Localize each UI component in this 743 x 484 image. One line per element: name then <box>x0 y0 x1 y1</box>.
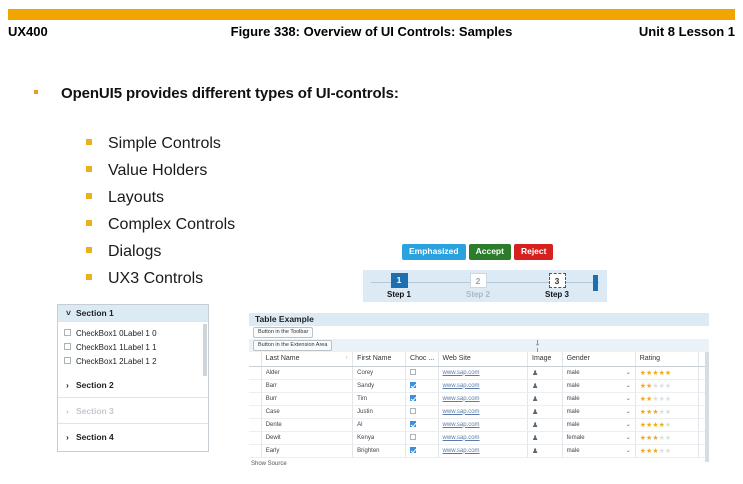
page-title: Figure 338: Overview of UI Controls: Sam… <box>231 24 513 39</box>
star-empty-icon[interactable]: ★ <box>665 396 671 403</box>
cell-last-name: Burr <box>261 392 352 405</box>
gender-select[interactable]: male⌄ <box>567 382 631 389</box>
roadmap-step-2-label: Step 2 <box>450 290 506 299</box>
list-item-label: UX3 Controls <box>108 270 203 287</box>
accordion-section-4-label: Section 4 <box>76 432 114 442</box>
roadmap-step-1-number: 1 <box>391 273 408 288</box>
list-item-label: Dialogs <box>108 243 161 260</box>
person-icon: ♟ <box>532 409 538 416</box>
cell-rating[interactable]: ★★★★★ <box>635 418 698 431</box>
star-filled-icon[interactable]: ★ <box>665 370 671 377</box>
table-toolbar: Button in the Toolbar <box>249 326 709 339</box>
chevron-down-icon[interactable]: ⌄ <box>626 369 631 376</box>
column-header-last-name-label: Last Name <box>266 355 300 362</box>
table-title: Table Example <box>249 313 709 326</box>
star-empty-icon[interactable]: ★ <box>665 435 671 442</box>
cell-web-site[interactable]: www.sap.com <box>438 431 527 444</box>
lead-statement: OpenUI5 provides different types of UI-c… <box>34 85 399 102</box>
accordion-section-3-label: Section 3 <box>76 406 114 416</box>
web-site-link[interactable]: www.sap.com <box>443 396 480 402</box>
cell-rating[interactable]: ★★★★★ <box>635 431 698 444</box>
list-item-label: Layouts <box>108 189 164 206</box>
cell-web-site[interactable]: www.sap.com <box>438 418 527 431</box>
chevron-down-icon: ˅ <box>66 305 76 322</box>
row-select-cell[interactable] <box>249 405 261 418</box>
cell-image: ♟ <box>528 405 563 418</box>
table-vertical-scrollbar[interactable] <box>705 352 709 462</box>
star-empty-icon[interactable]: ★ <box>665 422 671 429</box>
cell-rating[interactable]: ★★★★★ <box>635 444 698 457</box>
column-header-rating[interactable]: Rating <box>635 352 698 366</box>
table-row[interactable]: CaseJustinwww.sap.com♟male⌄★★★★★ <box>249 405 709 418</box>
gender-value: male <box>567 383 580 389</box>
table-row[interactable]: BurrTimwww.sap.com♟male⌄★★★★★ <box>249 392 709 405</box>
person-icon: ♟ <box>532 383 538 390</box>
resize-dots: •• <box>532 344 542 348</box>
rating-stars[interactable]: ★★★★★ <box>640 448 671 455</box>
cell-gender[interactable]: male⌄ <box>562 444 635 457</box>
column-header-first-name[interactable]: First Name <box>353 352 406 366</box>
checkbox-name: CheckBox1 2 <box>76 357 124 366</box>
cell-checked[interactable] <box>406 444 439 457</box>
roadmap-step-3[interactable]: 3 Step 3 <box>529 273 585 299</box>
bullet-square-icon <box>86 139 92 145</box>
table-row[interactable]: BarrSandywww.sap.com♟male⌄★★★★★ <box>249 379 709 392</box>
bullet-square-icon <box>86 193 92 199</box>
course-code: UX400 <box>8 24 48 39</box>
checkbox-icon[interactable] <box>64 357 71 364</box>
gender-value: female <box>567 435 585 441</box>
cell-image: ♟ <box>528 418 563 431</box>
star-empty-icon[interactable]: ★ <box>665 383 671 390</box>
cell-image: ♟ <box>528 444 563 457</box>
accordion-section-2-label: Section 2 <box>76 380 114 390</box>
cell-first-name: Brighten <box>353 444 406 457</box>
header-accent-bar <box>8 9 735 20</box>
checkbox-checked-icon[interactable] <box>410 421 416 427</box>
column-header-select[interactable] <box>249 352 261 366</box>
list-item: Simple Controls <box>86 130 235 157</box>
gender-value: male <box>567 396 580 402</box>
rating-stars[interactable]: ★★★★★ <box>640 435 671 442</box>
bullet-square-icon <box>86 247 92 253</box>
checkbox-checked-icon[interactable] <box>410 395 416 401</box>
column-header-image[interactable]: Image <box>528 352 563 366</box>
table-row[interactable]: EarlyBrightenwww.sap.com♟male⌄★★★★★ <box>249 444 709 457</box>
cell-rating[interactable]: ★★★★★ <box>635 379 698 392</box>
emphasized-button[interactable]: Emphasized <box>402 244 466 260</box>
gender-select[interactable]: male⌄ <box>567 421 631 428</box>
list-item: Layouts <box>86 184 235 211</box>
rating-stars[interactable]: ★★★★★ <box>640 383 671 390</box>
slide-header: UX400 Figure 338: Overview of UI Control… <box>8 24 735 44</box>
cell-last-name: Dewit <box>261 431 352 444</box>
unit-lesson: Unit 8 Lesson 1 <box>639 24 735 39</box>
table-row[interactable]: DewitKenyawww.sap.com♟female⌄★★★★★ <box>249 431 709 444</box>
row-select-cell[interactable] <box>249 431 261 444</box>
chevron-down-icon[interactable]: ⌄ <box>626 395 631 402</box>
person-icon: ♟ <box>532 396 538 403</box>
row-select-cell[interactable] <box>249 392 261 405</box>
roadmap-step-2-number: 2 <box>470 273 487 288</box>
bullet-square-icon <box>86 274 92 280</box>
chevron-down-icon[interactable]: ⌄ <box>626 382 631 389</box>
list-item-label: Value Holders <box>108 162 207 179</box>
accordion-section-2-header[interactable]: ›Section 2 <box>58 372 208 398</box>
checkbox-icon[interactable] <box>64 329 71 336</box>
gender-value: male <box>567 409 580 415</box>
roadmap-control: 1 Step 1 2 Step 2 3 Step 3 <box>363 270 607 302</box>
cell-last-name: Barr <box>261 379 352 392</box>
web-site-link[interactable]: www.sap.com <box>443 370 480 376</box>
checkbox-row[interactable]: CheckBox1 1Label 1 1 <box>64 340 208 354</box>
list-item: Value Holders <box>86 157 235 184</box>
cell-rating[interactable]: ★★★★★ <box>635 366 698 379</box>
checkbox-label: Label 1 1 <box>124 343 157 352</box>
person-icon: ♟ <box>532 435 538 442</box>
cell-first-name: Kenya <box>353 431 406 444</box>
cell-image: ♟ <box>528 431 563 444</box>
person-icon: ♟ <box>532 422 538 429</box>
gender-value: male <box>567 370 580 376</box>
cell-gender[interactable]: male⌄ <box>562 379 635 392</box>
table-row[interactable]: DenteAlwww.sap.com♟male⌄★★★★★ <box>249 418 709 431</box>
gender-select[interactable]: female⌄ <box>567 434 631 441</box>
column-header-web-site[interactable]: Web Site <box>438 352 527 366</box>
web-site-link[interactable]: www.sap.com <box>443 383 480 389</box>
web-site-link[interactable]: www.sap.com <box>443 448 480 454</box>
cell-gender[interactable]: female⌄ <box>562 431 635 444</box>
checkbox-name: CheckBox1 0 <box>76 329 124 338</box>
roadmap-end-marker <box>593 275 598 291</box>
column-resize-handle-icon[interactable]: •• <box>532 340 542 352</box>
cell-first-name: Tim <box>353 392 406 405</box>
cell-rating[interactable]: ★★★★★ <box>635 405 698 418</box>
extension-area-button[interactable]: Button in the Extension Area <box>253 340 332 351</box>
column-header-last-name[interactable]: Last Name↑ <box>261 352 352 366</box>
cell-web-site[interactable]: www.sap.com <box>438 444 527 457</box>
cell-first-name: Justin <box>353 405 406 418</box>
cell-last-name: Alder <box>261 366 352 379</box>
cell-web-site[interactable]: www.sap.com <box>438 405 527 418</box>
reject-button[interactable]: Reject <box>514 244 554 260</box>
checkbox-icon[interactable] <box>64 343 71 350</box>
roadmap-step-1[interactable]: 1 Step 1 <box>371 273 427 299</box>
cell-gender[interactable]: male⌄ <box>562 405 635 418</box>
cell-last-name: Dente <box>261 418 352 431</box>
bullet-square-icon <box>86 220 92 226</box>
cell-last-name: Case <box>261 405 352 418</box>
checkbox-row[interactable]: CheckBox1 0Label 1 0 <box>64 326 208 340</box>
row-select-cell[interactable] <box>249 379 261 392</box>
web-site-link[interactable]: www.sap.com <box>443 422 480 428</box>
sort-ascending-icon: ↑ <box>346 355 349 361</box>
roadmap-step-2[interactable]: 2 Step 2 <box>450 273 506 299</box>
cell-gender[interactable]: male⌄ <box>562 392 635 405</box>
chevron-down-icon[interactable]: ⌄ <box>626 408 631 415</box>
cell-first-name: Corey <box>353 366 406 379</box>
chevron-down-icon[interactable]: ⌄ <box>626 434 631 441</box>
cell-web-site[interactable]: www.sap.com <box>438 392 527 405</box>
accordion-section-1-header[interactable]: ˅Section 1 <box>58 305 208 322</box>
star-empty-icon[interactable]: ★ <box>665 409 671 416</box>
accordion-control: ˅Section 1 CheckBox1 0Label 1 0 CheckBox… <box>57 304 209 452</box>
person-icon: ♟ <box>532 370 538 377</box>
chevron-down-icon[interactable]: ⌄ <box>626 421 631 428</box>
row-select-cell[interactable] <box>249 418 261 431</box>
checkbox-label: Label 1 0 <box>124 329 157 338</box>
cell-gender[interactable]: male⌄ <box>562 418 635 431</box>
lead-statement-text: OpenUI5 provides different types of UI-c… <box>61 85 399 102</box>
checkbox-icon[interactable] <box>410 369 416 375</box>
person-icon: ♟ <box>532 448 538 455</box>
cell-image: ♟ <box>528 366 563 379</box>
column-header-checked[interactable]: Choc ... <box>406 352 439 366</box>
accordion-section-1-label: Section 1 <box>76 308 114 318</box>
row-select-cell[interactable] <box>249 366 261 379</box>
list-item: UX3 Controls <box>86 265 235 292</box>
show-source-link[interactable]: Show Source <box>249 461 709 467</box>
table-body: AlderCoreywww.sap.com♟male⌄★★★★★BarrSand… <box>249 366 709 457</box>
table-example-widget: Table Example Button in the Toolbar Butt… <box>249 313 709 463</box>
accept-button[interactable]: Accept <box>469 244 511 260</box>
chevron-right-icon: › <box>66 398 76 424</box>
cell-checked[interactable] <box>406 366 439 379</box>
gender-select[interactable]: male⌄ <box>567 369 631 376</box>
cell-checked[interactable] <box>406 379 439 392</box>
gender-select[interactable]: male⌄ <box>567 395 631 402</box>
roadmap-step-3-label: Step 3 <box>529 290 585 299</box>
list-item: Complex Controls <box>86 211 235 238</box>
checkbox-icon[interactable] <box>410 408 416 414</box>
cell-web-site[interactable]: www.sap.com <box>438 366 527 379</box>
cell-first-name: Al <box>353 418 406 431</box>
cell-image: ♟ <box>528 379 563 392</box>
roadmap-step-1-label: Step 1 <box>371 290 427 299</box>
table-header-row: Last Name↑ First Name Choc ... Web Site … <box>249 352 709 366</box>
checkbox-name: CheckBox1 1 <box>76 343 124 352</box>
cell-checked[interactable] <box>406 431 439 444</box>
bullet-square-icon <box>34 90 38 94</box>
cell-image: ♟ <box>528 392 563 405</box>
cell-checked[interactable] <box>406 405 439 418</box>
checkbox-label: Label 1 2 <box>124 357 157 366</box>
data-table: Last Name↑ First Name Choc ... Web Site … <box>249 352 709 458</box>
gender-select[interactable]: male⌄ <box>567 408 631 415</box>
control-type-list: Simple Controls Value Holders Layouts Co… <box>86 130 235 292</box>
chevron-right-icon: › <box>66 424 76 450</box>
row-select-cell[interactable] <box>249 444 261 457</box>
checkbox-icon[interactable] <box>410 434 416 440</box>
accordion-section-1-content: CheckBox1 0Label 1 0 CheckBox1 1Label 1 … <box>58 322 208 372</box>
cell-first-name: Sandy <box>353 379 406 392</box>
list-item: Dialogs <box>86 238 235 265</box>
column-header-gender[interactable]: Gender <box>562 352 635 366</box>
cell-last-name: Early <box>261 444 352 457</box>
bullet-square-icon <box>86 166 92 172</box>
list-item-label: Complex Controls <box>108 216 235 233</box>
table-row[interactable]: AlderCoreywww.sap.com♟male⌄★★★★★ <box>249 366 709 379</box>
star-empty-icon[interactable]: ★ <box>665 448 671 455</box>
web-site-link[interactable]: www.sap.com <box>443 435 480 441</box>
table-extension-area: Button in the Extension Area •• <box>249 339 709 352</box>
gender-value: male <box>567 422 580 428</box>
checkbox-checked-icon[interactable] <box>410 447 416 453</box>
accordion-scrollbar[interactable] <box>203 324 207 376</box>
list-item-label: Simple Controls <box>108 135 221 152</box>
accordion-section-4-header[interactable]: ›Section 4 <box>58 424 208 450</box>
toolbar-button[interactable]: Button in the Toolbar <box>253 327 313 338</box>
cell-web-site[interactable]: www.sap.com <box>438 379 527 392</box>
cell-gender[interactable]: male⌄ <box>562 366 635 379</box>
rating-stars[interactable]: ★★★★★ <box>640 396 671 403</box>
cell-checked[interactable] <box>406 392 439 405</box>
sample-button-group: Emphasized Accept Reject <box>402 244 553 260</box>
chevron-down-icon[interactable]: ⌄ <box>626 447 631 454</box>
checkbox-checked-icon[interactable] <box>410 382 416 388</box>
gender-select[interactable]: male⌄ <box>567 447 631 454</box>
gender-value: male <box>567 448 580 454</box>
rating-stars[interactable]: ★★★★★ <box>640 370 671 377</box>
accordion-section-3-header: ›Section 3 <box>58 398 208 424</box>
checkbox-row[interactable]: CheckBox1 2Label 1 2 <box>64 354 208 368</box>
cell-checked[interactable] <box>406 418 439 431</box>
rating-stars[interactable]: ★★★★★ <box>640 409 671 416</box>
rating-stars[interactable]: ★★★★★ <box>640 422 671 429</box>
cell-rating[interactable]: ★★★★★ <box>635 392 698 405</box>
roadmap-step-3-number: 3 <box>549 273 566 288</box>
web-site-link[interactable]: www.sap.com <box>443 409 480 415</box>
chevron-right-icon: › <box>66 372 76 398</box>
